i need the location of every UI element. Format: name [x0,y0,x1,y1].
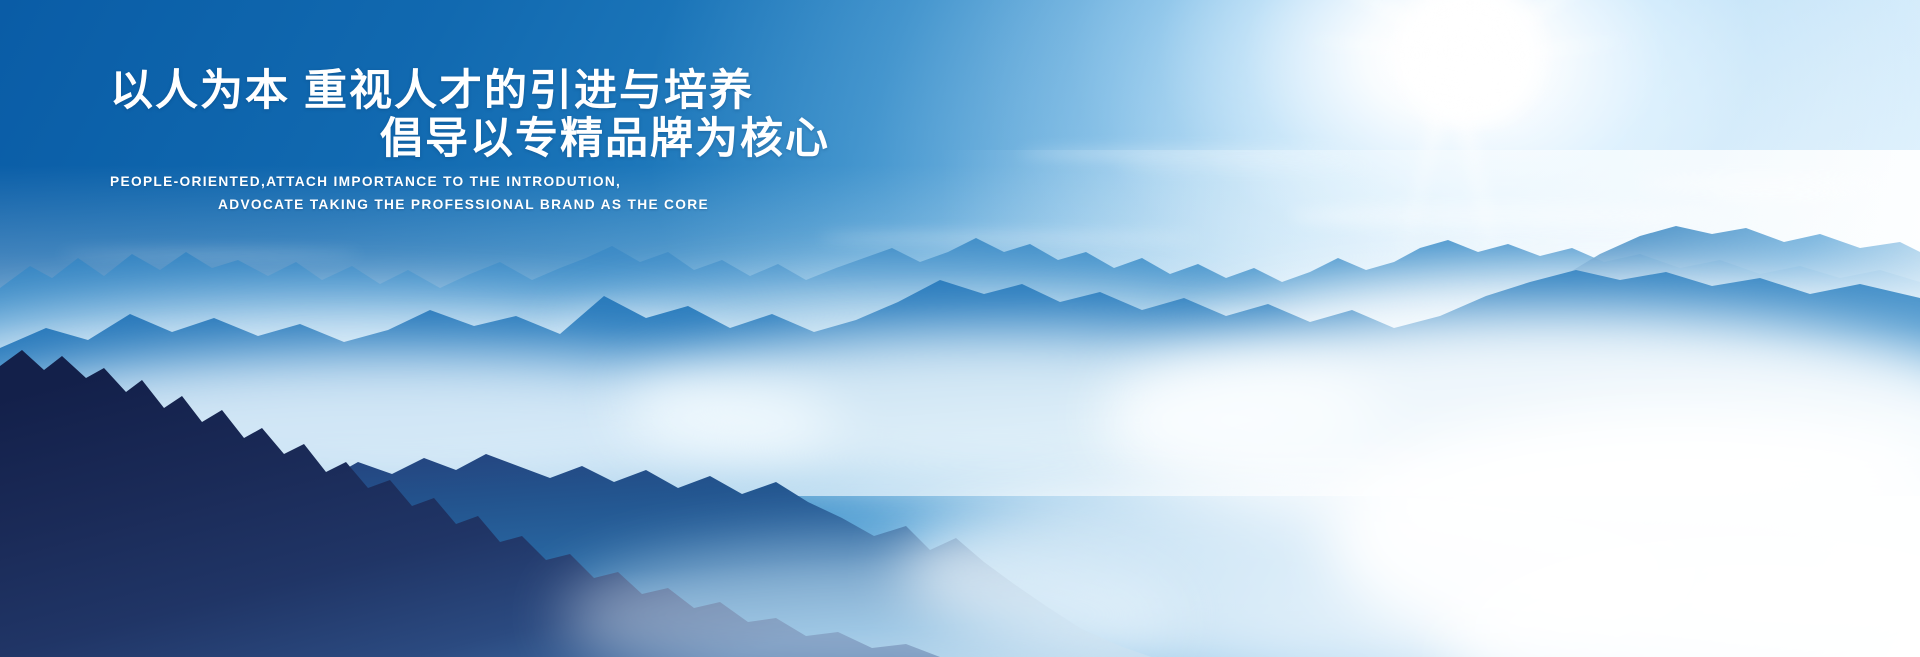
hero-banner: 以人为本 重视人才的引进与培养 倡导以专精品牌为核心 PEOPLE-ORIENT… [0,0,1920,657]
headline-chinese-line-2: 倡导以专精品牌为核心 [380,118,830,161]
sun-icon [1385,0,1555,130]
foreground-rocks-icon [0,330,1920,657]
subtitle-english-line-2: ADVOCATE TAKING THE PROFESSIONAL BRAND A… [218,197,709,211]
headline-chinese-line-1: 以人为本 重视人才的引进与培养 [110,70,754,113]
subtitle-english-line-1: PEOPLE-ORIENTED,ATTACH IMPORTANCE TO THE… [110,174,621,188]
